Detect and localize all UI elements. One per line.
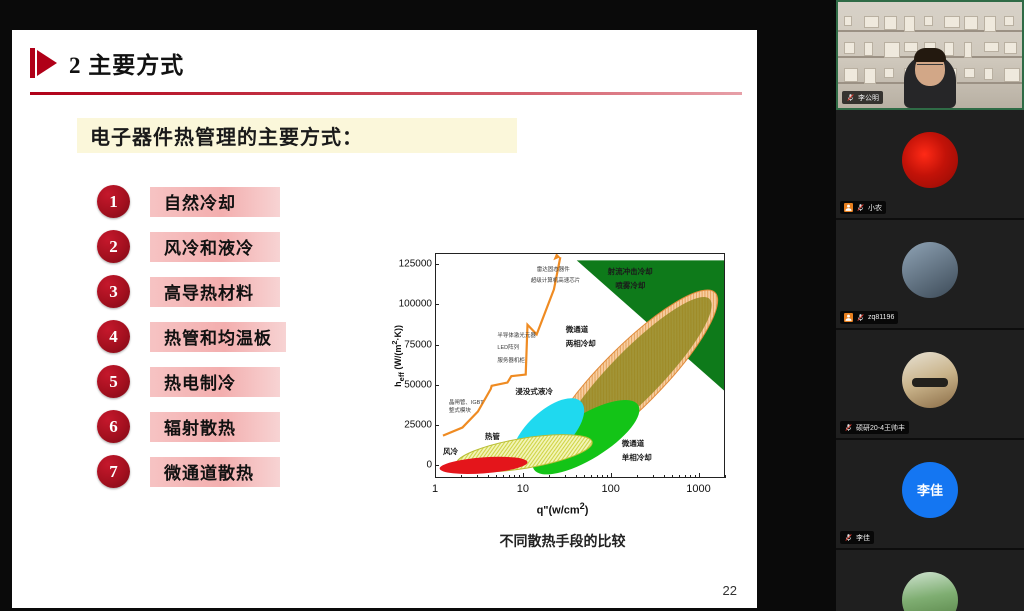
- method-label: 热管和均温板: [150, 322, 286, 352]
- chart-annotation: 整式模块: [449, 408, 471, 416]
- method-list-item: 4热管和均温板: [97, 317, 286, 356]
- participant-name-tag: zq81196: [840, 311, 898, 324]
- participant-video-sidebar[interactable]: 李公明 小农 zq81196 硕研20-4王帅丰李佳 李佳: [836, 0, 1024, 611]
- chart-x-tick-mark: [602, 475, 603, 478]
- chart-annotation: 热管: [485, 432, 500, 443]
- method-label: 辐射散热: [150, 412, 280, 442]
- chart-y-tick-label: 125000: [382, 259, 432, 270]
- chart-annotation: 两相冷却: [566, 339, 596, 350]
- chart-annotation: 风冷: [443, 447, 458, 458]
- chart-plot-area: 雷达固态器件超级计算机高速芯片半导体激光元器LED阵列服务器机柜晶闸管、IGBT…: [435, 253, 725, 478]
- participant-name: 李公明: [858, 93, 879, 103]
- page-title: 2 主要方式: [69, 46, 184, 80]
- chart-x-tick-mark: [549, 475, 550, 478]
- avatar: [902, 352, 958, 408]
- chart-y-tick-mark: [435, 345, 439, 346]
- chart-annotation: LED阵列: [497, 345, 519, 353]
- method-label: 微通道散热: [150, 457, 280, 487]
- participant-tile[interactable]: 硕研20-4王帅丰: [836, 330, 1024, 440]
- participant-name: zq81196: [868, 314, 894, 321]
- avatar: [902, 132, 958, 188]
- chart-annotation: 射流冲击冷却: [608, 267, 653, 278]
- chart-annotation: 超级计算机高速芯片: [531, 278, 581, 286]
- participant-tile[interactable]: 李佳 李佳: [836, 440, 1024, 550]
- method-list-item: 5热电制冷: [97, 362, 286, 401]
- list-number-badge: 3: [97, 275, 130, 308]
- list-number-badge: 4: [97, 320, 130, 353]
- chart-x-tick-mark: [672, 475, 673, 478]
- chart-x-tick-label: 100: [602, 483, 620, 495]
- participant-name: 硕研20-4王帅丰: [856, 423, 905, 433]
- chart-x-axis-title: q"(w/cm2): [390, 501, 735, 517]
- chart-regions: [436, 254, 725, 478]
- chart-annotation: 雷达固态器件: [537, 267, 570, 275]
- chart-x-tick-label: 1000: [686, 483, 710, 495]
- method-label: 自然冷却: [150, 187, 280, 217]
- chart-y-tick-mark: [435, 425, 439, 426]
- avatar: [902, 572, 958, 611]
- method-list-item: 7微通道散热: [97, 452, 286, 491]
- triangle-marker-icon: [30, 48, 57, 78]
- chart-annotation: 微通道: [566, 325, 589, 336]
- list-number-badge: 7: [97, 455, 130, 488]
- slide-subtitle: 电子器件热管理的主要方式：: [77, 118, 517, 153]
- avatar: 李佳: [902, 462, 958, 518]
- chart-annotation: 喷雾冷却: [615, 281, 645, 292]
- participant-name-tag: 硕研20-4王帅丰: [840, 421, 909, 434]
- chart-x-tick-mark: [496, 475, 497, 478]
- chart-x-tick-mark: [576, 475, 577, 478]
- participant-tile[interactable]: 李公明: [836, 0, 1024, 110]
- slide-page-number: 22: [723, 583, 737, 598]
- chart-x-tick-mark: [685, 475, 686, 478]
- chart-x-tick-mark: [679, 475, 680, 478]
- user-badge-icon: [844, 313, 853, 322]
- chart-x-tick-mark: [699, 473, 700, 478]
- chart-x-tick-mark: [607, 475, 608, 478]
- chart-annotation: 微通道: [622, 439, 645, 450]
- microphone-muted-icon: [844, 423, 853, 432]
- chart-x-tick-mark: [637, 475, 638, 478]
- presentation-stage: 2 主要方式 电子器件热管理的主要方式： 1自然冷却2风冷和液冷3高导热材料4热…: [0, 0, 836, 611]
- slide-title-row: 2 主要方式: [30, 46, 184, 80]
- participant-tile[interactable]: zq81196: [836, 220, 1024, 330]
- chart-x-tick-mark: [514, 475, 515, 478]
- chart-annotation: 服务器机柜: [497, 358, 525, 366]
- chart-annotation: 半导体激光元器: [497, 333, 536, 341]
- chart-y-tick-label: 25000: [382, 419, 432, 430]
- chart-x-tick-mark: [695, 475, 696, 478]
- method-label: 热电制冷: [150, 367, 280, 397]
- user-badge-icon: [844, 203, 853, 212]
- chart-x-tick-mark: [488, 475, 489, 478]
- chart-y-tick-mark: [435, 465, 439, 466]
- participant-tile[interactable]: 小农: [836, 110, 1024, 220]
- microphone-muted-icon: [846, 93, 855, 102]
- chart-x-tick-mark: [653, 475, 654, 478]
- chart-x-tick-mark: [591, 475, 592, 478]
- chart-x-tick-label: 10: [517, 483, 529, 495]
- chart-x-tick-mark: [461, 475, 462, 478]
- chart-y-tick-mark: [435, 304, 439, 305]
- chart-y-tick-label: 0: [382, 460, 432, 471]
- slide-canvas: 2 主要方式 电子器件热管理的主要方式： 1自然冷却2风冷和液冷3高导热材料4热…: [12, 30, 757, 608]
- microphone-muted-icon: [856, 203, 865, 212]
- participant-name-tag: 小农: [840, 201, 886, 214]
- chart-x-tick-mark: [664, 475, 665, 478]
- method-label: 高导热材料: [150, 277, 280, 307]
- method-list: 1自然冷却2风冷和液冷3高导热材料4热管和均温板5热电制冷6辐射散热7微通道散热: [97, 182, 286, 497]
- list-number-badge: 6: [97, 410, 130, 443]
- chart-x-tick-mark: [565, 475, 566, 478]
- method-list-item: 6辐射散热: [97, 407, 286, 446]
- screen-root: 2 主要方式 电子器件热管理的主要方式： 1自然冷却2风冷和液冷3高导热材料4热…: [0, 0, 1024, 611]
- chart-x-tick-mark: [584, 475, 585, 478]
- chart-x-tick-mark: [509, 475, 510, 478]
- chart-x-tick-mark: [597, 475, 598, 478]
- chart-x-tick-mark: [477, 475, 478, 478]
- method-list-item: 1自然冷却: [97, 182, 286, 221]
- chart-x-tick-mark: [435, 473, 436, 478]
- chart-annotation: 浸没式液冷: [515, 387, 553, 398]
- chart-x-tick-mark: [690, 475, 691, 478]
- title-divider: [30, 92, 742, 95]
- participant-name-tag: 李公明: [842, 91, 883, 104]
- participant-silhouette: [904, 54, 956, 108]
- method-label: 风冷和液冷: [150, 232, 280, 262]
- chart-annotation: 晶闸管、IGBT: [449, 400, 484, 408]
- chart-x-tick-label: 1: [432, 483, 438, 495]
- chart-y-tick-mark: [435, 385, 439, 386]
- list-number-badge: 2: [97, 230, 130, 263]
- chart-y-tick-mark: [435, 264, 439, 265]
- chart-annotation: 单相冷却: [622, 453, 652, 464]
- participant-tile[interactable]: [836, 550, 1024, 611]
- chart-x-tick-mark: [519, 475, 520, 478]
- chart-x-tick-mark: [611, 473, 612, 478]
- participant-name: 小农: [868, 203, 882, 213]
- avatar: [902, 242, 958, 298]
- microphone-muted-icon: [844, 533, 853, 542]
- participant-name-tag: 李佳: [840, 531, 874, 544]
- method-list-item: 3高导热材料: [97, 272, 286, 311]
- microphone-muted-icon: [856, 313, 865, 322]
- chart-x-tick-mark: [523, 473, 524, 478]
- method-list-item: 2风冷和液冷: [97, 227, 286, 266]
- chart-x-tick-mark: [503, 475, 504, 478]
- list-number-badge: 5: [97, 365, 130, 398]
- participant-name: 李佳: [856, 533, 870, 543]
- chart-x-tick-mark: [725, 475, 726, 478]
- chart-caption: 不同散热手段的比较: [390, 531, 735, 551]
- chart-y-axis-title: heff (W/(m2·K)): [390, 296, 406, 416]
- comparison-chart: 雷达固态器件超级计算机高速芯片半导体激光元器LED阵列服务器机柜晶闸管、IGBT…: [390, 243, 735, 553]
- chart-region: [439, 454, 528, 476]
- list-number-badge: 1: [97, 185, 130, 218]
